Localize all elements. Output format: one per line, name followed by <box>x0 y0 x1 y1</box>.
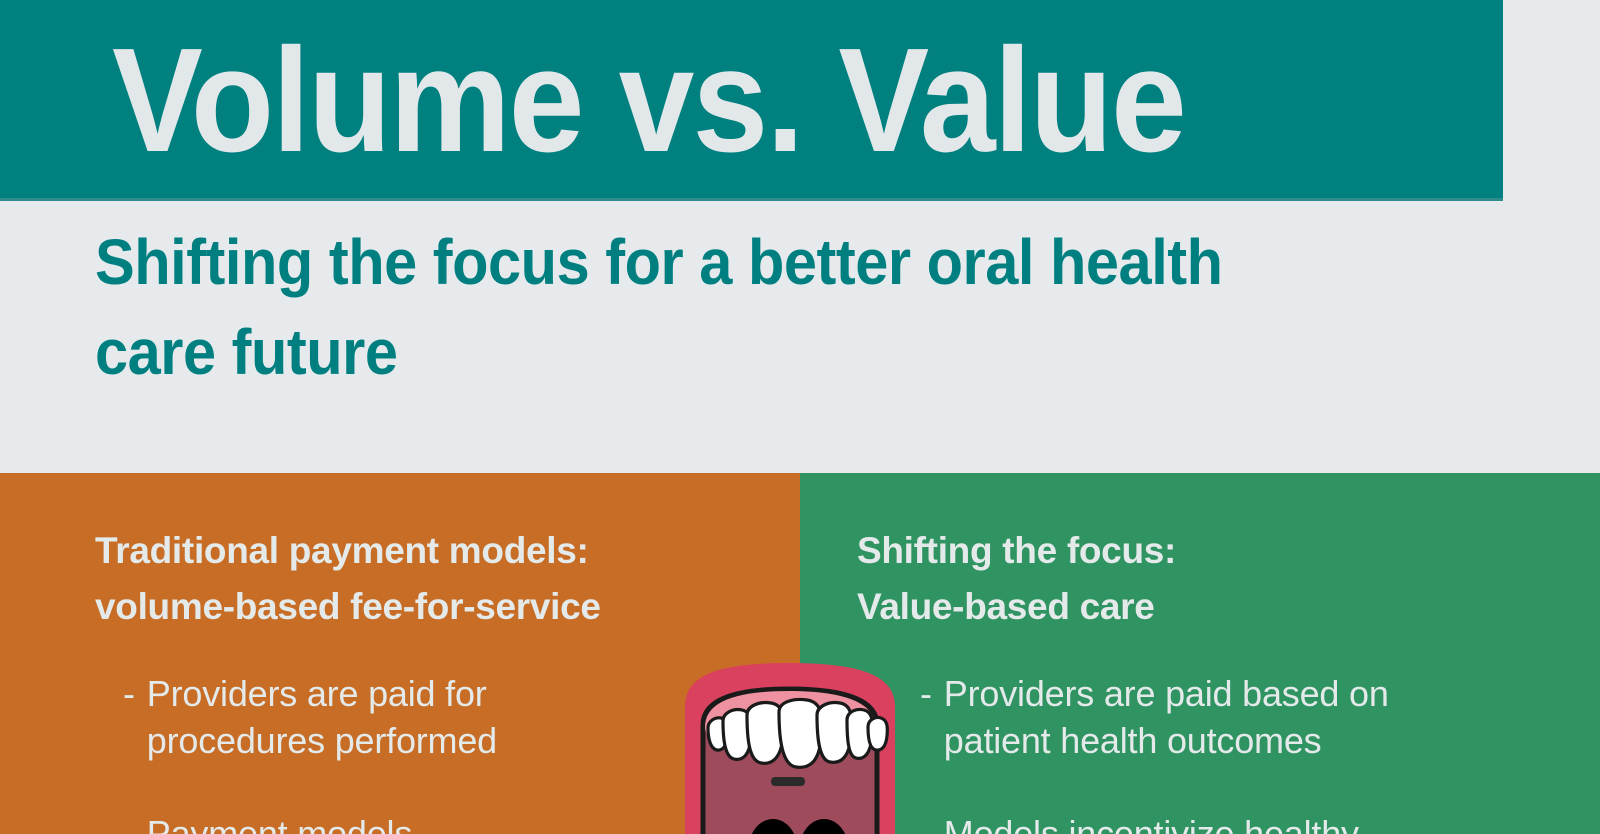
infographic-page: Volume vs. Value Shifting the focus for … <box>0 0 1600 834</box>
open-mouth-teeth-icon <box>655 655 923 834</box>
page-subtitle: Shifting the focus for a better oral hea… <box>95 218 1258 397</box>
list-item: - Payment models <box>123 811 593 834</box>
list-item: - Providers are paid for procedures perf… <box>123 671 593 765</box>
panel-left-bullet-list: - Providers are paid for procedures perf… <box>123 671 593 834</box>
list-item: - Providers are paid based on patient he… <box>920 671 1450 765</box>
list-item-label: Providers are paid based on patient heal… <box>944 671 1450 765</box>
bullet-dash-icon: - <box>123 671 135 765</box>
panel-right-bullet-list: - Providers are paid based on patient he… <box>920 671 1450 834</box>
page-title: Volume vs. Value <box>112 27 1185 175</box>
panel-right-heading: Shifting the focus: Value-based care <box>857 523 1176 634</box>
list-item-label: Models incentivize healthy <box>944 811 1450 834</box>
list-item: - Models incentivize healthy <box>920 811 1450 834</box>
list-item-label: Providers are paid for procedures perfor… <box>147 671 593 765</box>
bullet-dash-icon: - <box>123 811 135 834</box>
panel-left-heading: Traditional payment models: volume-based… <box>95 523 601 634</box>
list-item-label: Payment models <box>147 811 593 834</box>
title-bar: Volume vs. Value <box>0 0 1503 201</box>
